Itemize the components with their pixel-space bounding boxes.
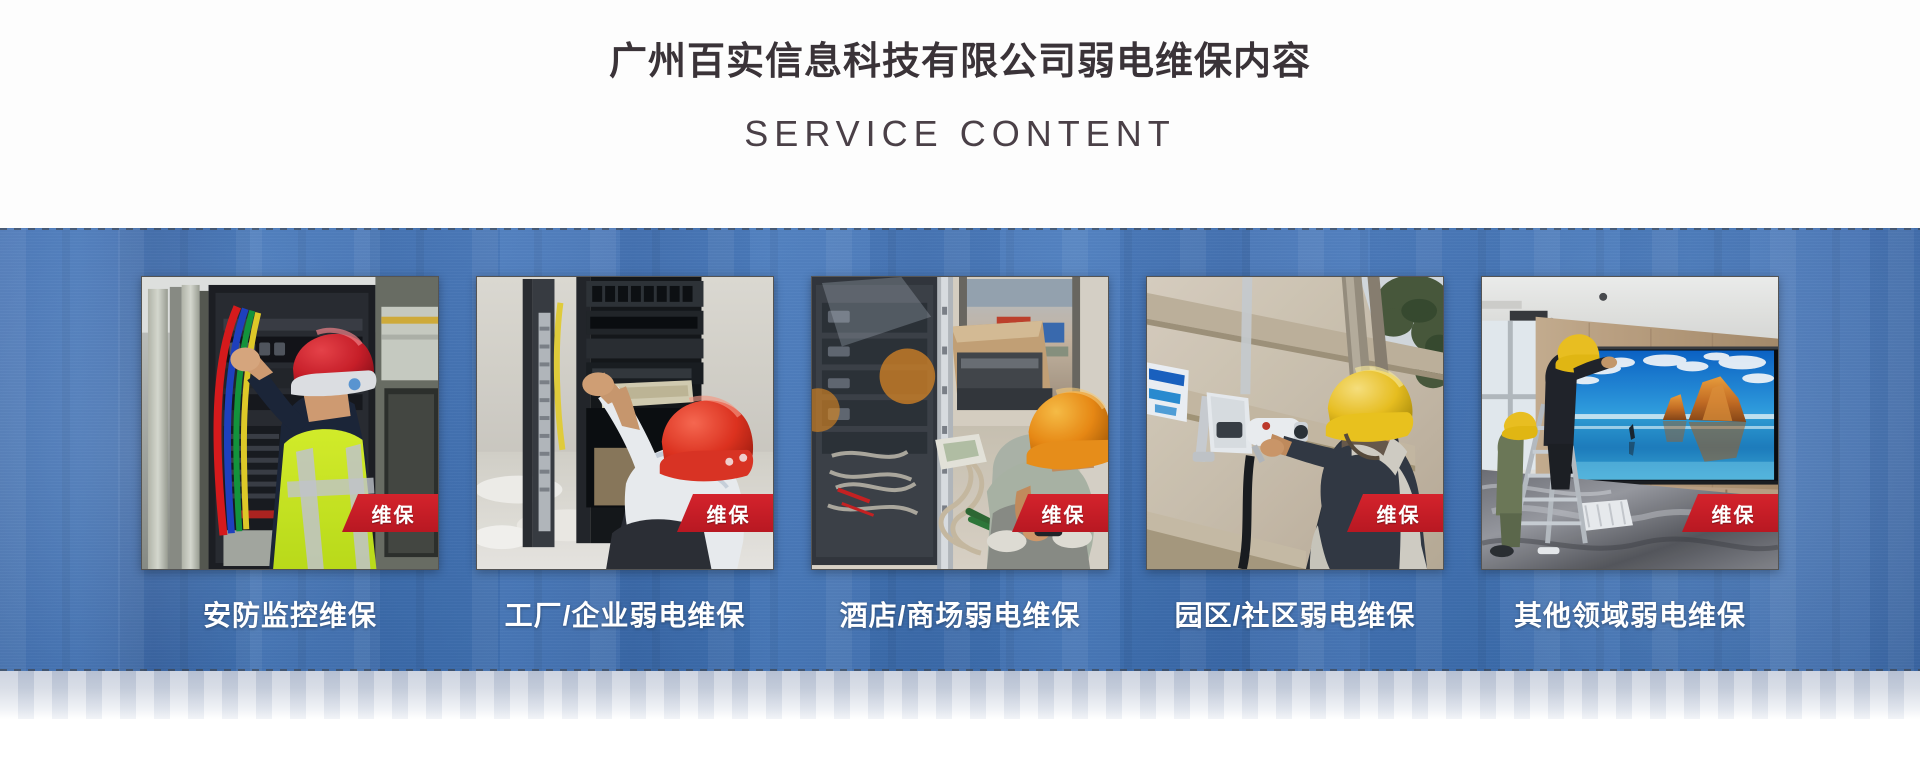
maintenance-badge: 维保	[342, 494, 438, 532]
card-caption: 其他领域弱电维保	[1514, 594, 1746, 634]
page-header: 广州百实信息科技有限公司弱电维保内容 SERVICE CONTENT	[0, 0, 1920, 228]
card-thumbnail[interactable]: 维保	[1481, 276, 1779, 570]
service-card-park-community[interactable]: 维保 园区/社区弱电维保	[1146, 276, 1444, 634]
card-caption: 工厂/企业弱电维保	[505, 594, 746, 634]
card-thumbnail[interactable]: 维保	[811, 276, 1109, 570]
footer-stripe-texture	[0, 671, 1920, 719]
service-card-security-monitoring[interactable]: 维保 安防监控维保	[141, 276, 439, 634]
service-content-banner-page: 广州百实信息科技有限公司弱电维保内容 SERVICE CONTENT	[0, 0, 1920, 780]
page-title: 广州百实信息科技有限公司弱电维保内容	[609, 38, 1311, 87]
service-card-hotel-mall[interactable]: 维保 酒店/商场弱电维保	[811, 276, 1109, 634]
footer-gradient-strip	[0, 671, 1920, 719]
maintenance-badge: 维保	[1347, 494, 1443, 532]
page-subtitle: SERVICE CONTENT	[744, 113, 1175, 155]
footer-white-area	[0, 719, 1920, 780]
card-thumbnail[interactable]: 维保	[1146, 276, 1444, 570]
card-caption: 安防监控维保	[203, 594, 377, 634]
card-thumbnail[interactable]: 维保	[141, 276, 439, 570]
card-caption: 园区/社区弱电维保	[1175, 594, 1416, 634]
card-caption: 酒店/商场弱电维保	[840, 594, 1081, 634]
maintenance-badge: 维保	[677, 494, 773, 532]
maintenance-badge: 维保	[1682, 494, 1778, 532]
service-card-factory-enterprise[interactable]: 维保 工厂/企业弱电维保	[476, 276, 774, 634]
card-thumbnail[interactable]: 维保	[476, 276, 774, 570]
service-banner: 维保 安防监控维保	[0, 228, 1920, 671]
service-card-other-fields[interactable]: 维保 其他领域弱电维保	[1481, 276, 1779, 634]
maintenance-badge: 维保	[1012, 494, 1108, 532]
service-card-row: 维保 安防监控维保	[0, 228, 1920, 671]
